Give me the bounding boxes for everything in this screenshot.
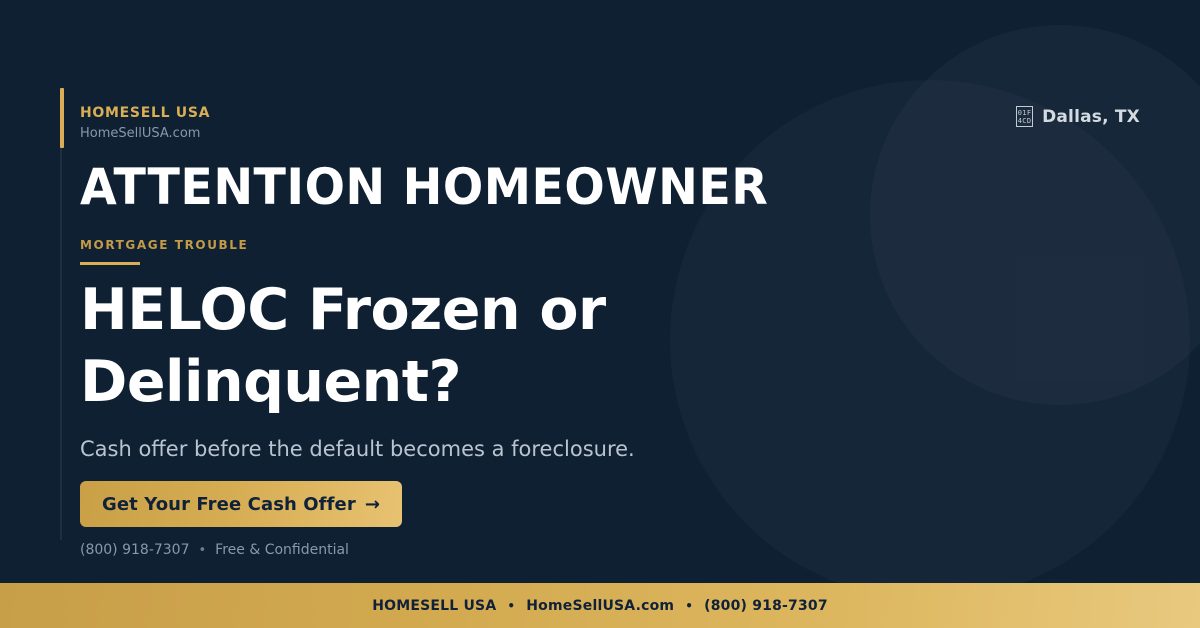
left-accent-bar [60,88,64,148]
brand-name: HOMESELL USA [80,104,210,122]
footer-website[interactable]: HomeSellUSA.com [526,598,674,614]
footer-separator-2: • [685,599,693,613]
get-free-cash-offer-button[interactable]: Get Your Free Cash Offer → [80,481,402,527]
brand-block: HOMESELL USA HomeSellUSA.com [80,104,210,142]
ad-banner: HOMESELL USA HomeSellUSA.com 01F 4CD Dal… [0,0,1200,628]
cta-label: Get Your Free Cash Offer [102,494,356,515]
page-title: HELOC Frozen or Delinquent? [80,274,720,418]
fineprint-phone[interactable]: (800) 918-7307 [80,541,190,560]
subheadline: Cash offer before the default becomes a … [80,435,635,464]
pushpin-icon-codepoint-bottom: 4CD [1018,117,1032,125]
location-label: Dallas, TX [1042,107,1140,127]
fineprint-note: Free & Confidential [215,541,349,560]
pushpin-icon-codepoint-top: 01F [1018,109,1032,117]
brand-row: HOMESELL USA HomeSellUSA.com 01F 4CD Dal… [80,104,1140,142]
location-badge: 01F 4CD Dallas, TX [1016,106,1140,127]
fineprint-separator: • [199,541,207,560]
pushpin-icon: 01F 4CD [1016,106,1033,127]
brand-website: HomeSellUSA.com [80,125,210,142]
banner-content: HOMESELL USA HomeSellUSA.com 01F 4CD Dal… [80,0,1140,578]
footer-phone[interactable]: (800) 918-7307 [704,598,828,614]
footer-separator-1: • [507,599,515,613]
footer-bar: HOMESELL USA • HomeSellUSA.com • (800) 9… [0,583,1200,628]
arrow-right-icon: → [365,494,380,515]
eyebrow-label: MORTGAGE TROUBLE [80,237,248,253]
attention-headline: ATTENTION HOMEOWNER [80,158,768,216]
eyebrow-underline [80,262,140,265]
fineprint-row: (800) 918-7307 • Free & Confidential [80,541,349,560]
footer-brand: HOMESELL USA [372,598,496,614]
left-vertical-rule [60,88,62,540]
